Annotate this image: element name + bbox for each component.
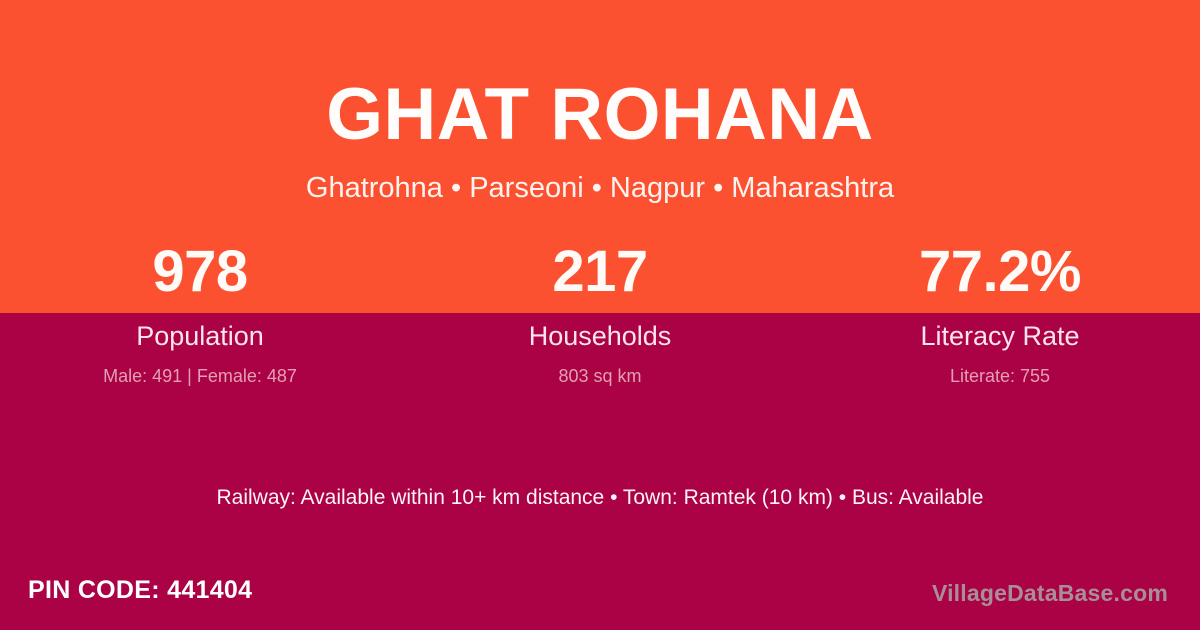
pin-code-label: PIN CODE: 441404 [28,575,252,605]
stat-label-literacy-rate: Literacy Rate [800,322,1200,352]
site-brand-watermark: VillageDataBase.com [932,580,1168,608]
stat-value-households: 217 [400,243,800,301]
village-info-card: GHAT ROHANA Ghatrohna • Parseoni • Nagpu… [0,0,1200,630]
stat-detail-households: 803 sq km [400,367,800,387]
stat-label-population: Population [0,322,400,352]
card-header: GHAT ROHANA Ghatrohna • Parseoni • Nagpu… [0,0,1200,205]
statistics-row: 978 Population Male: 491 | Female: 487 2… [0,243,1200,386]
stat-value-literacy-rate: 77.2% [800,243,1200,301]
stat-value-population: 978 [0,243,400,301]
amenities-summary-text: Railway: Available within 10+ km distanc… [217,485,984,510]
card-footer: PIN CODE: 441404 VillageDataBase.com [0,572,1200,630]
amenities-row: Railway: Available within 10+ km distanc… [0,485,1200,510]
page-title: GHAT ROHANA [0,78,1200,151]
stat-label-households: Households [400,322,800,352]
stat-block-households: 217 Households 803 sq km [400,243,800,386]
stat-detail-population: Male: 491 | Female: 487 [0,367,400,387]
stat-block-population: 978 Population Male: 491 | Female: 487 [0,243,400,386]
stat-detail-literacy-rate: Literate: 755 [800,367,1200,387]
stat-block-literacy-rate: 77.2% Literacy Rate Literate: 755 [800,243,1200,386]
breadcrumb: Ghatrohna • Parseoni • Nagpur • Maharash… [0,173,1200,205]
